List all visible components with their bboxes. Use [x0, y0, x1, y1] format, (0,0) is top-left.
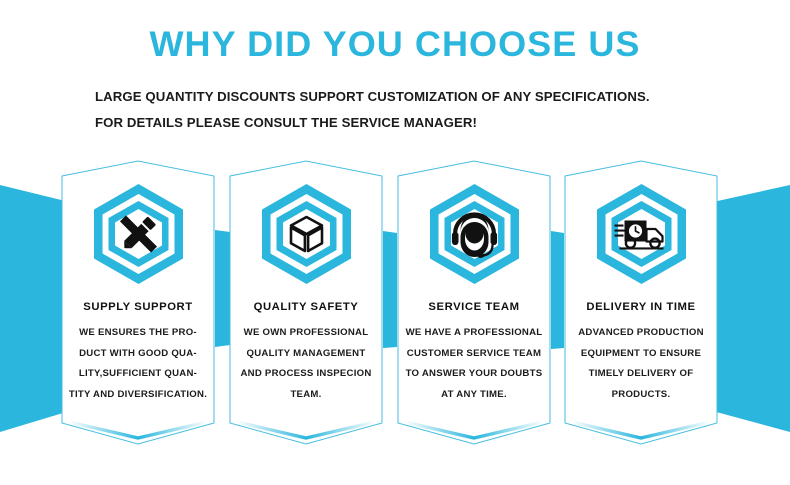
card-desc-line: DUCT WITH GOOD QUA-: [61, 344, 215, 365]
card-title: SUPPLY SUPPORT: [61, 301, 215, 313]
card-desc-line: TIMELY DELIVERY OF: [564, 364, 718, 385]
card-desc-line: TO ANSWER YOUR DOUBTS: [397, 364, 551, 385]
card-description: WE ENSURES THE PRO- DUCT WITH GOOD QUA- …: [61, 323, 215, 405]
card-desc-line: PRODUCTS.: [564, 385, 718, 406]
card-content: QUALITY SAFETY WE OWN PROFESSIONAL QUALI…: [229, 160, 383, 445]
card-title: SERVICE TEAM: [397, 301, 551, 313]
subtitle-line-2: FOR DETAILS PLEASE CONSULT THE SERVICE M…: [95, 110, 715, 136]
card-desc-line: AT ANY TIME.: [397, 385, 551, 406]
card-desc-line: CUSTOMER SERVICE TEAM: [397, 344, 551, 365]
card-desc-line: ADVANCED PRODUCTION: [564, 323, 718, 344]
card-content: SUPPLY SUPPORT WE ENSURES THE PRO- DUCT …: [61, 160, 215, 445]
card-title: DELIVERY IN TIME: [564, 301, 718, 313]
card-desc-line: TEAM.: [229, 385, 383, 406]
page-subtitle: LARGE QUANTITY DISCOUNTS SUPPORT CUSTOMI…: [95, 84, 715, 136]
subtitle-line-1: LARGE QUANTITY DISCOUNTS SUPPORT CUSTOMI…: [95, 84, 715, 110]
feature-cards-row: SUPPLY SUPPORT WE ENSURES THE PRO- DUCT …: [0, 0, 790, 485]
card-icon-badge: [259, 182, 354, 286]
page-root: WHY DID YOU CHOOSE US LARGE QUANTITY DIS…: [0, 0, 790, 485]
card-desc-line: AND PROCESS INSPECION: [229, 364, 383, 385]
card-icon-badge: [594, 182, 689, 286]
feature-card-supply-support[interactable]: SUPPLY SUPPORT WE ENSURES THE PRO- DUCT …: [61, 160, 215, 445]
card-description: WE OWN PROFESSIONAL QUALITY MANAGEMENT A…: [229, 323, 383, 405]
feature-card-delivery-in-time[interactable]: DELIVERY IN TIME ADVANCED PRODUCTION EQU…: [564, 160, 718, 445]
card-desc-line: WE HAVE A PROFESSIONAL: [397, 323, 551, 344]
card-desc-line: WE ENSURES THE PRO-: [61, 323, 215, 344]
card-desc-line: WE OWN PROFESSIONAL: [229, 323, 383, 344]
card-description: ADVANCED PRODUCTION EQUIPMENT TO ENSURE …: [564, 323, 718, 405]
card-icon-badge: [427, 182, 522, 286]
card-desc-line: EQUIPMENT TO ENSURE: [564, 344, 718, 365]
feature-card-service-team[interactable]: SERVICE TEAM WE HAVE A PROFESSIONAL CUST…: [397, 160, 551, 445]
feature-card-quality-safety[interactable]: QUALITY SAFETY WE OWN PROFESSIONAL QUALI…: [229, 160, 383, 445]
card-desc-line: TITY AND DIVERSIFICATION.: [61, 385, 215, 406]
card-title: QUALITY SAFETY: [229, 301, 383, 313]
card-icon-badge: [91, 182, 186, 286]
card-content: DELIVERY IN TIME ADVANCED PRODUCTION EQU…: [564, 160, 718, 445]
card-desc-line: QUALITY MANAGEMENT: [229, 344, 383, 365]
card-description: WE HAVE A PROFESSIONAL CUSTOMER SERVICE …: [397, 323, 551, 405]
page-title: WHY DID YOU CHOOSE US: [0, 25, 790, 65]
card-content: SERVICE TEAM WE HAVE A PROFESSIONAL CUST…: [397, 160, 551, 445]
card-desc-line: LITY,SUFFICIENT QUAN-: [61, 364, 215, 385]
